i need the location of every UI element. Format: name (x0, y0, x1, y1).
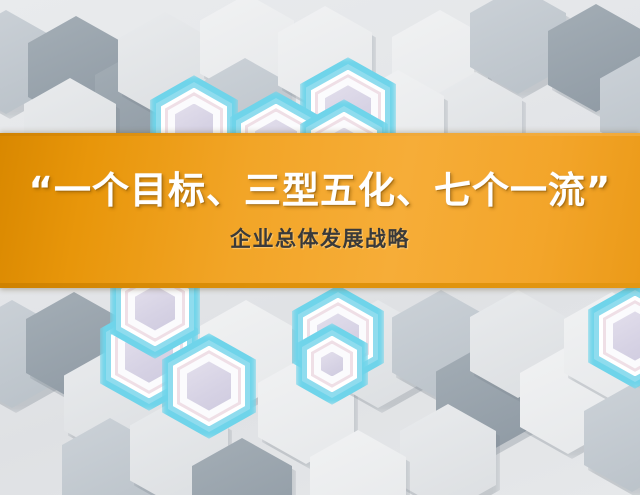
presentation-slide: “一个目标、三型五化、七个一流” 企业总体发展战略 (0, 0, 640, 495)
title-banner: “一个目标、三型五化、七个一流” 企业总体发展战略 (0, 133, 640, 288)
page-subtitle: 企业总体发展战略 (230, 229, 410, 250)
glowing-hexagon (302, 330, 362, 398)
banner-bottom-edge (0, 283, 640, 288)
page-title: “一个目标、三型五化、七个一流” (29, 172, 612, 211)
glowing-hexagon (168, 340, 250, 432)
glowing-hexagon (594, 290, 640, 382)
banner-top-edge (0, 133, 640, 136)
